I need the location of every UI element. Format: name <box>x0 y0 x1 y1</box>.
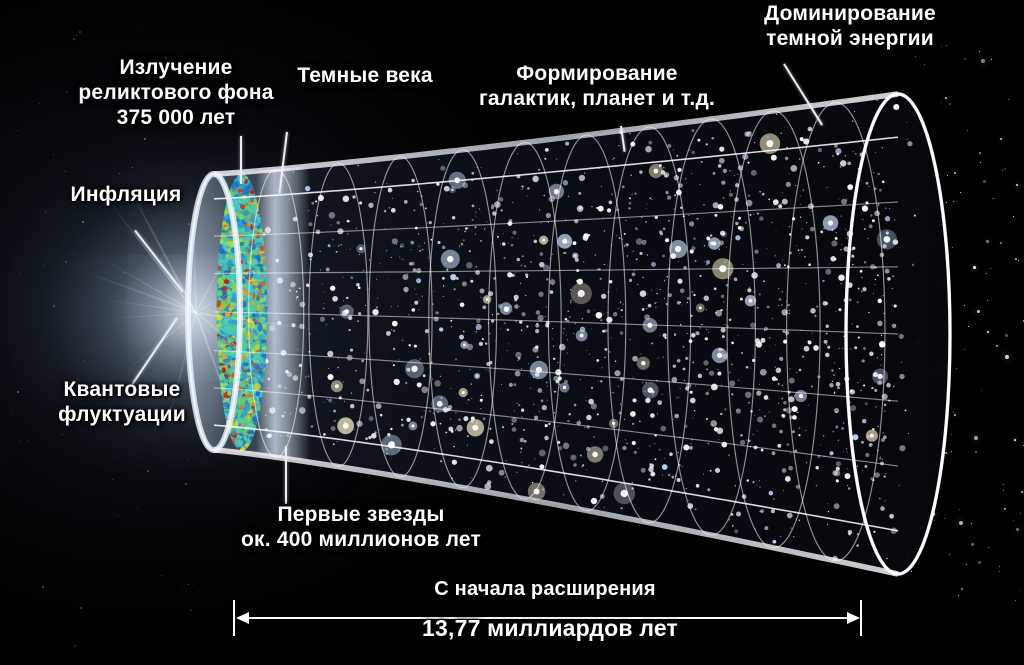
label-galaxy-formation: Формирование галактик, планет и т.д. <box>452 62 742 112</box>
label-quantum-line1: Квантовые <box>22 378 222 403</box>
scale-arrowhead-right-icon <box>847 612 860 624</box>
label-cmb-line2: реликтового фона <box>42 81 310 106</box>
label-scale-value-text: 13,77 миллиардов лет <box>385 615 715 642</box>
scale-tick-left <box>233 600 235 636</box>
label-galaxy-line2: галактик, планет и т.д. <box>452 87 742 112</box>
label-dark-energy-line1: Доминирование <box>700 2 1000 27</box>
label-first-stars: Первые звезды ок. 400 миллионов лет <box>196 503 526 553</box>
label-scale-caption-text: С начала расширения <box>380 578 710 602</box>
label-cmb: Излучение реликтового фона 375 000 лет <box>42 56 310 130</box>
label-scale-value: 13,77 миллиардов лет <box>385 615 715 642</box>
label-dark-energy-line2: темной энергии <box>700 27 1000 52</box>
universe-expansion-figure: Излучение реликтового фона 375 000 лет Т… <box>0 0 1024 665</box>
scale-tick-right <box>860 600 862 636</box>
label-dark-ages-text: Темные века <box>280 64 450 89</box>
scale-arrowhead-left-icon <box>236 612 249 624</box>
label-dark-energy: Доминирование темной энергии <box>700 2 1000 52</box>
label-first-stars-line2: ок. 400 миллионов лет <box>196 528 526 553</box>
label-cmb-line1: Излучение <box>42 56 310 81</box>
label-dark-ages: Темные века <box>280 64 450 89</box>
label-quantum-fluctuations: Квантовые флуктуации <box>22 378 222 428</box>
label-galaxy-line1: Формирование <box>452 62 742 87</box>
label-quantum-line2: флуктуации <box>22 403 222 428</box>
label-inflation-text: Инфляция <box>38 183 214 208</box>
label-inflation: Инфляция <box>38 183 214 208</box>
label-cmb-line3: 375 000 лет <box>42 106 310 131</box>
label-first-stars-line1: Первые звезды <box>196 503 526 528</box>
label-scale-caption: С начала расширения <box>380 578 710 602</box>
